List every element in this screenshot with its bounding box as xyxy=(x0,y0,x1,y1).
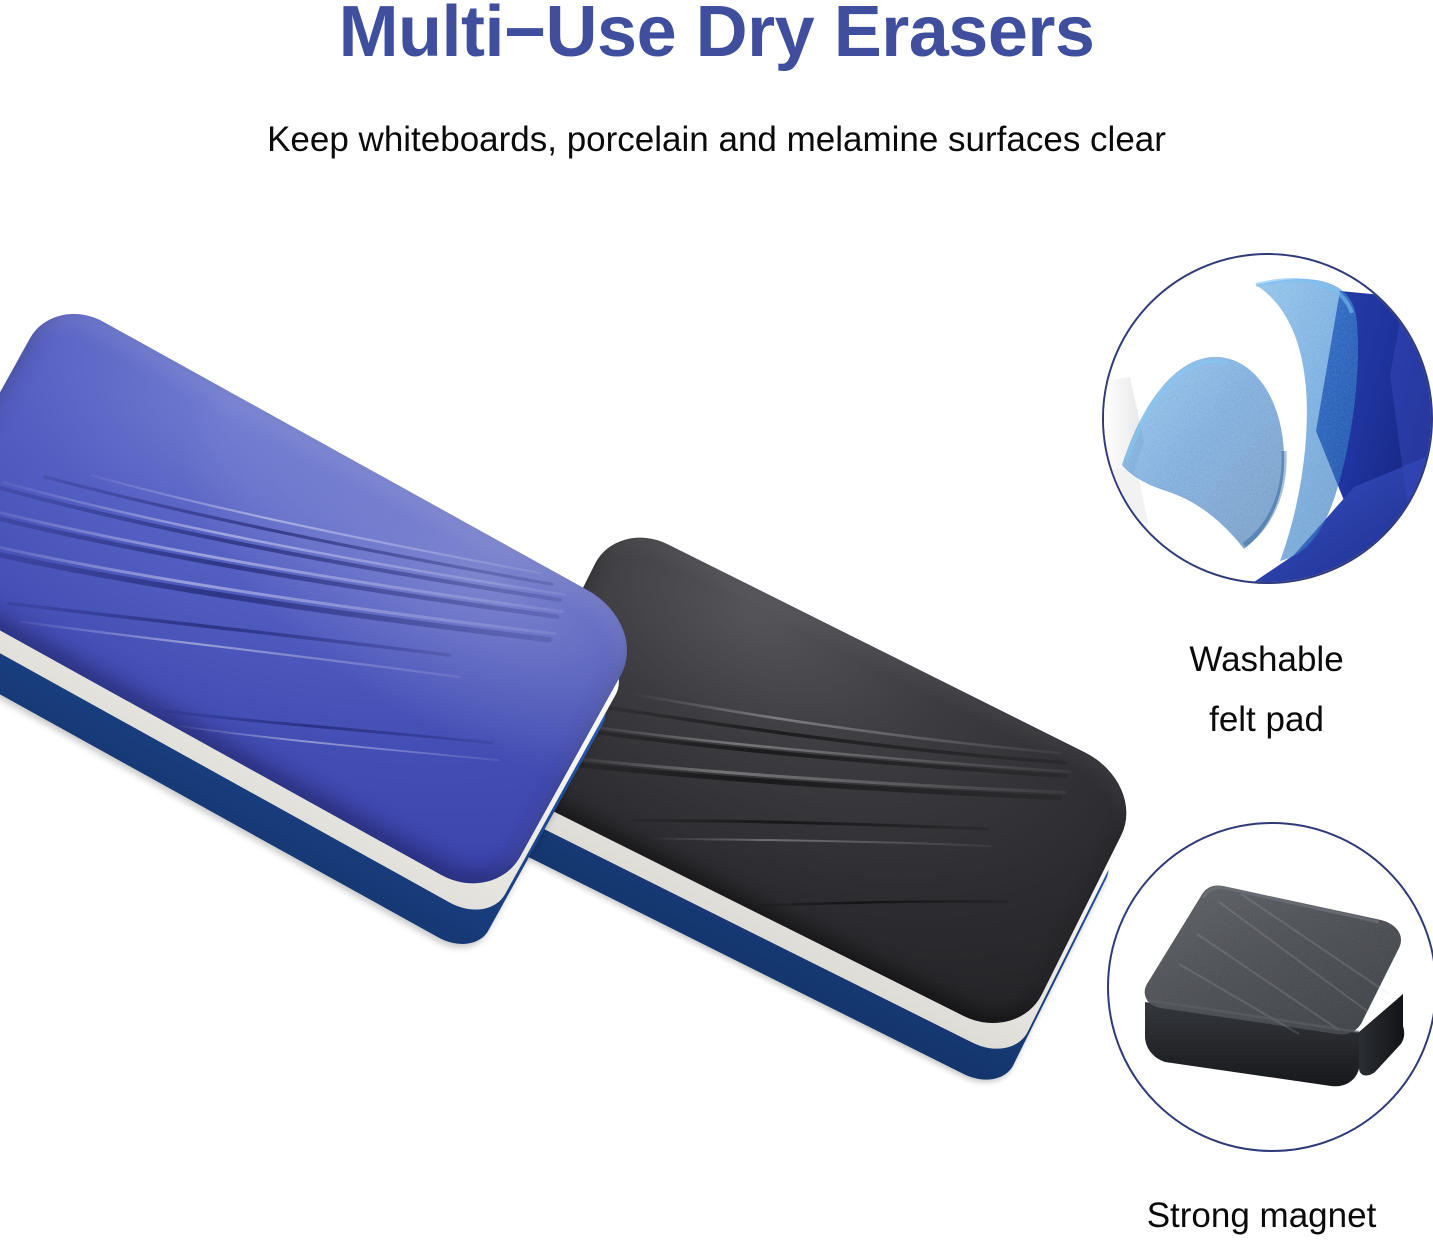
washable-felt-pad-inset xyxy=(1102,253,1433,584)
page-title: Multi−Use Dry Erasers xyxy=(0,0,1433,68)
strong-magnet-inset xyxy=(1107,822,1433,1152)
felt-pad-closeup-icon xyxy=(1104,255,1431,582)
page-subtitle: Keep whiteboards, porcelain and melamine… xyxy=(0,122,1433,157)
product-photo-group xyxy=(0,400,1090,1237)
washable-felt-pad-caption: Washable felt pad xyxy=(1100,630,1433,750)
strong-magnet-caption: Strong magnet xyxy=(1090,1186,1433,1246)
ferrite-magnet-block-icon xyxy=(1109,824,1433,1150)
marketing-image-canvas: Multi−Use Dry Erasers Keep whiteboards, … xyxy=(0,0,1433,1237)
